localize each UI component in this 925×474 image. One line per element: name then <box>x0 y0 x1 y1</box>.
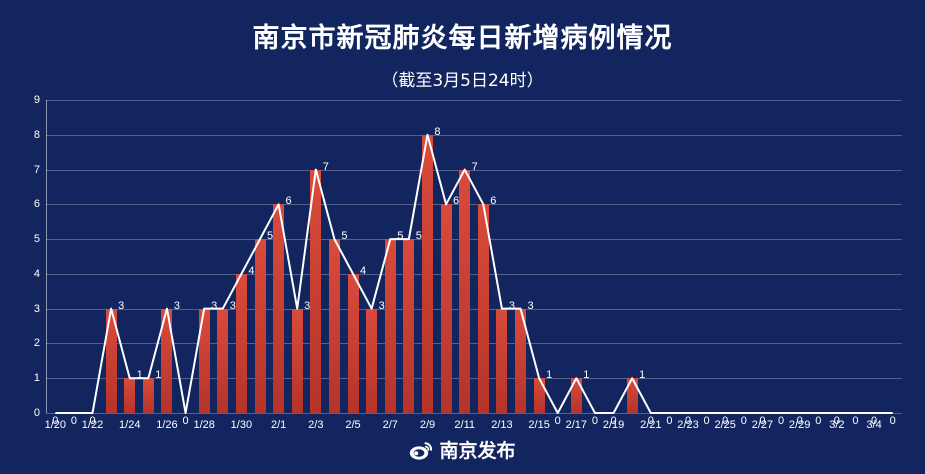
line-series <box>46 100 902 413</box>
footer-brand: 南京发布 <box>0 436 925 466</box>
data-label: 7 <box>323 161 329 173</box>
x-tick-label: 2/11 <box>454 419 475 431</box>
y-tick-label: 3 <box>34 303 40 315</box>
y-tick-label: 9 <box>34 94 40 106</box>
x-tick-label: 2/7 <box>383 419 398 431</box>
data-label: 1 <box>546 369 552 381</box>
x-tick-label: 2/29 <box>789 419 810 431</box>
footer-label: 南京发布 <box>439 440 515 462</box>
data-label: 7 <box>472 161 478 173</box>
weibo-icon <box>409 441 433 466</box>
data-label: 3 <box>379 300 385 312</box>
data-label: 5 <box>397 230 403 242</box>
y-tick-label: 2 <box>34 337 40 349</box>
line-path <box>55 135 892 413</box>
x-tick-label: 2/25 <box>714 419 735 431</box>
y-tick-label: 4 <box>34 268 40 280</box>
chart-page: 南京市新冠肺炎每日新增病例情况 （截至3月5日24时） 0123456789 0… <box>0 0 925 474</box>
x-tick-label: 1/28 <box>193 419 214 431</box>
data-label: 3 <box>118 300 124 312</box>
x-tick-label: 2/1 <box>271 419 286 431</box>
x-tick-label: 1/24 <box>119 419 140 431</box>
plot-area: 0123456789 00031130334563754355867633101… <box>46 100 902 413</box>
x-tick-label: 1/20 <box>45 419 66 431</box>
data-label: 1 <box>583 369 589 381</box>
data-label: 3 <box>211 300 217 312</box>
data-label: 0 <box>592 415 598 427</box>
data-label: 0 <box>704 415 710 427</box>
page-title: 南京市新冠肺炎每日新增病例情况 <box>0 16 925 55</box>
data-label: 4 <box>248 265 254 277</box>
data-label: 3 <box>174 300 180 312</box>
y-tick-label: 8 <box>34 129 40 141</box>
x-tick-label: 2/21 <box>640 419 661 431</box>
data-label: 3 <box>509 300 515 312</box>
data-label: 1 <box>137 369 143 381</box>
x-tick-label: 2/15 <box>528 419 549 431</box>
x-tick-label: 1/22 <box>82 419 103 431</box>
y-tick-label: 7 <box>34 164 40 176</box>
x-tick-label: 3/4 <box>866 419 881 431</box>
page-subtitle: （截至3月5日24时） <box>0 66 925 91</box>
x-tick-label: 2/3 <box>308 419 323 431</box>
data-label: 0 <box>666 415 672 427</box>
data-label: 0 <box>183 415 189 427</box>
data-label: 0 <box>778 415 784 427</box>
data-label: 3 <box>304 300 310 312</box>
data-label: 0 <box>890 415 896 427</box>
y-tick-label: 0 <box>34 407 40 419</box>
data-label: 0 <box>815 415 821 427</box>
data-label: 6 <box>490 195 496 207</box>
x-tick-label: 2/13 <box>491 419 512 431</box>
data-label: 3 <box>527 300 533 312</box>
y-tick-label: 6 <box>34 198 40 210</box>
x-tick-label: 2/9 <box>420 419 435 431</box>
data-label: 6 <box>286 195 292 207</box>
x-tick-label: 2/5 <box>345 419 360 431</box>
x-tick-label: 1/30 <box>231 419 252 431</box>
x-tick-label: 2/17 <box>566 419 587 431</box>
data-label: 1 <box>639 369 645 381</box>
x-tick-label: 1/26 <box>156 419 177 431</box>
y-tick-label: 1 <box>34 372 40 384</box>
x-tick-label: 2/27 <box>752 419 773 431</box>
x-tick-label: 3/2 <box>829 419 844 431</box>
data-label: 5 <box>341 230 347 242</box>
x-tick-label: 2/19 <box>603 419 624 431</box>
data-label: 6 <box>453 195 459 207</box>
data-label: 5 <box>267 230 273 242</box>
data-label: 0 <box>555 415 561 427</box>
data-label: 5 <box>416 230 422 242</box>
data-label: 0 <box>852 415 858 427</box>
data-label: 3 <box>230 300 236 312</box>
data-label: 8 <box>434 126 440 138</box>
x-tick-label: 2/23 <box>677 419 698 431</box>
y-tick-label: 5 <box>34 233 40 245</box>
data-label: 0 <box>741 415 747 427</box>
data-label: 0 <box>71 415 77 427</box>
data-label: 4 <box>360 265 366 277</box>
data-label: 1 <box>155 369 161 381</box>
